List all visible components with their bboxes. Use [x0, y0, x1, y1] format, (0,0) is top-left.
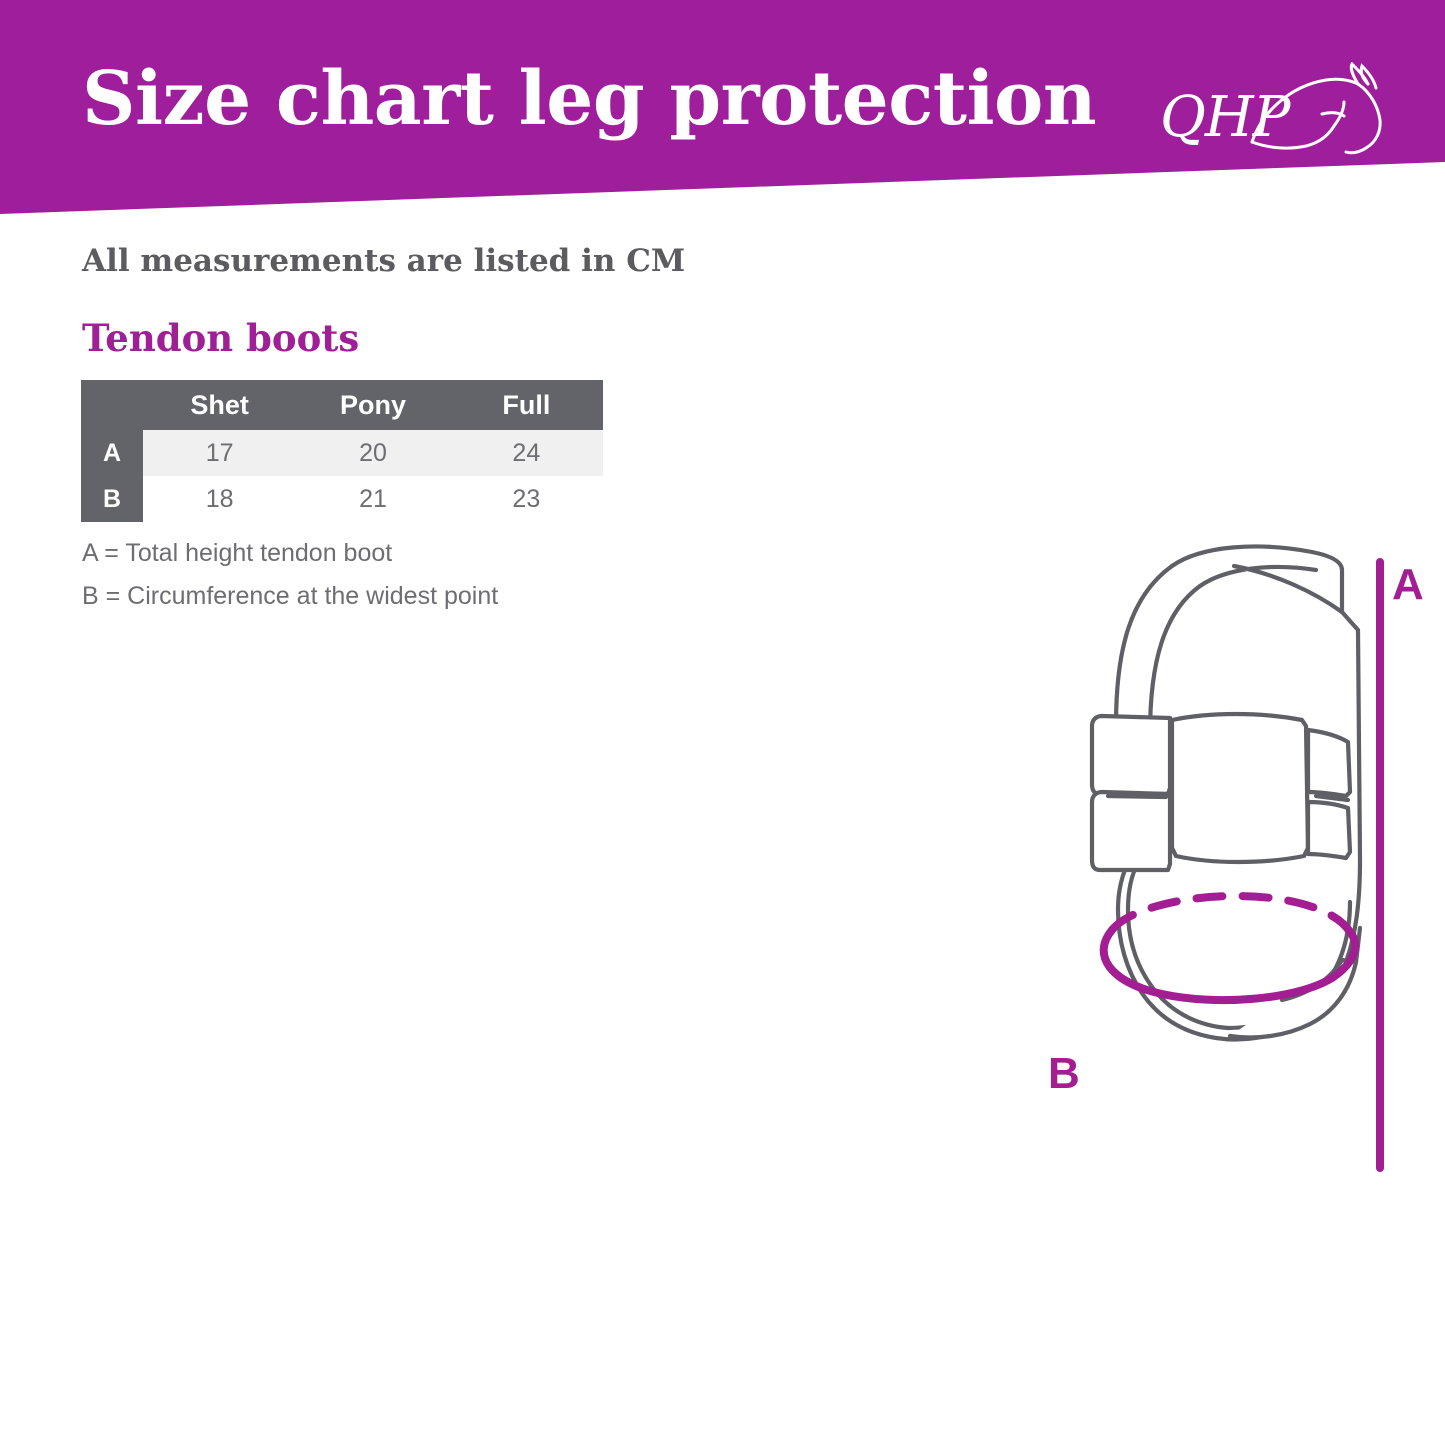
table-row: B 18 21 23 [81, 476, 603, 522]
section-title: Tendon boots [82, 316, 359, 360]
cell-b-full: 23 [450, 476, 603, 522]
table-row: A 17 20 24 [81, 430, 603, 476]
legend-line-b: B = Circumference at the widest point [82, 575, 498, 618]
table-head: Shet Pony Full [81, 380, 603, 430]
table-body: A 17 20 24 B 18 21 23 [81, 430, 603, 522]
cell-b-pony: 21 [296, 476, 449, 522]
measure-a-line [1372, 556, 1388, 1174]
column-header-shet: Shet [143, 380, 296, 430]
row-label-b: B [81, 476, 143, 522]
table-header-row: Shet Pony Full [81, 380, 603, 430]
size-chart-table: Shet Pony Full A 17 20 24 B 18 21 23 [81, 380, 603, 522]
cell-a-shet: 17 [143, 430, 296, 476]
legend-line-a: A = Total height tendon boot [82, 532, 498, 575]
brand-logo: QHP [1160, 62, 1390, 167]
cell-b-shet: 18 [143, 476, 296, 522]
cell-a-pony: 20 [296, 430, 449, 476]
measure-a-label: A [1392, 563, 1424, 607]
page-title: Size chart leg protection [82, 62, 1096, 136]
horse-head-icon [1248, 62, 1388, 172]
column-header-pony: Pony [296, 380, 449, 430]
row-label-a: A [81, 430, 143, 476]
measurement-legend: A = Total height tendon boot B = Circumf… [82, 532, 498, 618]
column-header-full: Full [450, 380, 603, 430]
cell-a-full: 24 [450, 430, 603, 476]
units-note: All measurements are listed in CM [82, 243, 685, 279]
measure-b-label: B [1048, 1052, 1080, 1096]
table-corner-cell [81, 380, 143, 430]
